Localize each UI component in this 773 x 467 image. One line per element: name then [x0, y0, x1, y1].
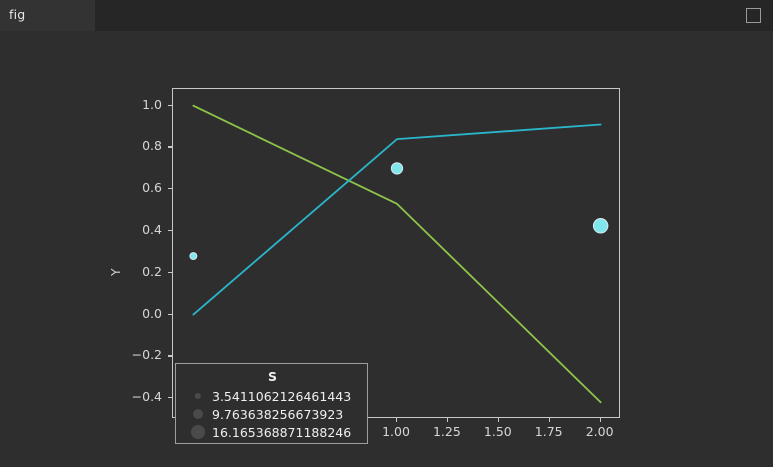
legend-label: 3.5411062126461443	[212, 389, 351, 404]
legend-marker-wrap	[184, 387, 212, 405]
y-tick-mark	[168, 230, 172, 231]
y-tick-label: 0.4	[122, 223, 162, 236]
titlebar: fig	[0, 0, 773, 31]
legend-marker-wrap	[184, 423, 212, 441]
y-tick-label: −0.4	[122, 390, 162, 403]
legend-marker-icon	[193, 409, 203, 419]
legend-entry: 16.165368871188246	[176, 423, 369, 441]
line-cyan-line	[193, 125, 600, 315]
y-tick-label: 0.0	[122, 307, 162, 320]
titlebar-tabstrip	[95, 0, 773, 31]
y-tick-mark	[168, 272, 172, 273]
legend-entry: 3.5411062126461443	[176, 387, 369, 405]
legend-marker-icon	[191, 425, 205, 439]
legend-box: S 3.54110621264614439.76363825667392316.…	[175, 363, 368, 444]
x-tick-mark	[447, 418, 448, 422]
y-tick-mark	[168, 355, 172, 356]
x-tick-mark	[396, 418, 397, 422]
legend-marker-icon	[195, 393, 201, 399]
legend-marker-wrap	[184, 405, 212, 423]
line-green-line	[193, 106, 600, 403]
legend-title: S	[176, 369, 369, 384]
legend-label: 9.763638256673923	[212, 407, 343, 422]
y-tick-mark	[168, 397, 172, 398]
y-tick-mark	[168, 146, 172, 147]
x-tick-mark	[498, 418, 499, 422]
legend-entry: 9.763638256673923	[176, 405, 369, 423]
y-tick-label: 0.8	[122, 139, 162, 152]
legend-label: 16.165368871188246	[212, 425, 351, 440]
y-tick-label: −0.2	[122, 348, 162, 361]
scatter-point	[391, 163, 402, 174]
y-tick-mark	[168, 188, 172, 189]
scatter-point	[593, 219, 607, 233]
x-tick-mark	[600, 418, 601, 422]
y-tick-label: 0.2	[122, 265, 162, 278]
x-tick-label: 2.00	[570, 425, 630, 438]
y-tick-label: 0.6	[122, 181, 162, 194]
restore-window-icon[interactable]	[746, 8, 761, 23]
y-tick-mark	[168, 105, 172, 106]
window-title: fig	[9, 8, 25, 22]
y-tick-mark	[168, 314, 172, 315]
matplotlib-figure-canvas: 1.00.80.60.40.20.0−0.2−0.4 0.000.250.500…	[0, 31, 773, 467]
figure-window: fig 1.00.80.60.40.20.0−0.2−0.4 0.000.250…	[0, 0, 773, 467]
y-tick-label: 1.0	[122, 98, 162, 111]
scatter-point	[190, 253, 197, 260]
y-axis-title: Y	[108, 268, 123, 276]
x-tick-mark	[549, 418, 550, 422]
